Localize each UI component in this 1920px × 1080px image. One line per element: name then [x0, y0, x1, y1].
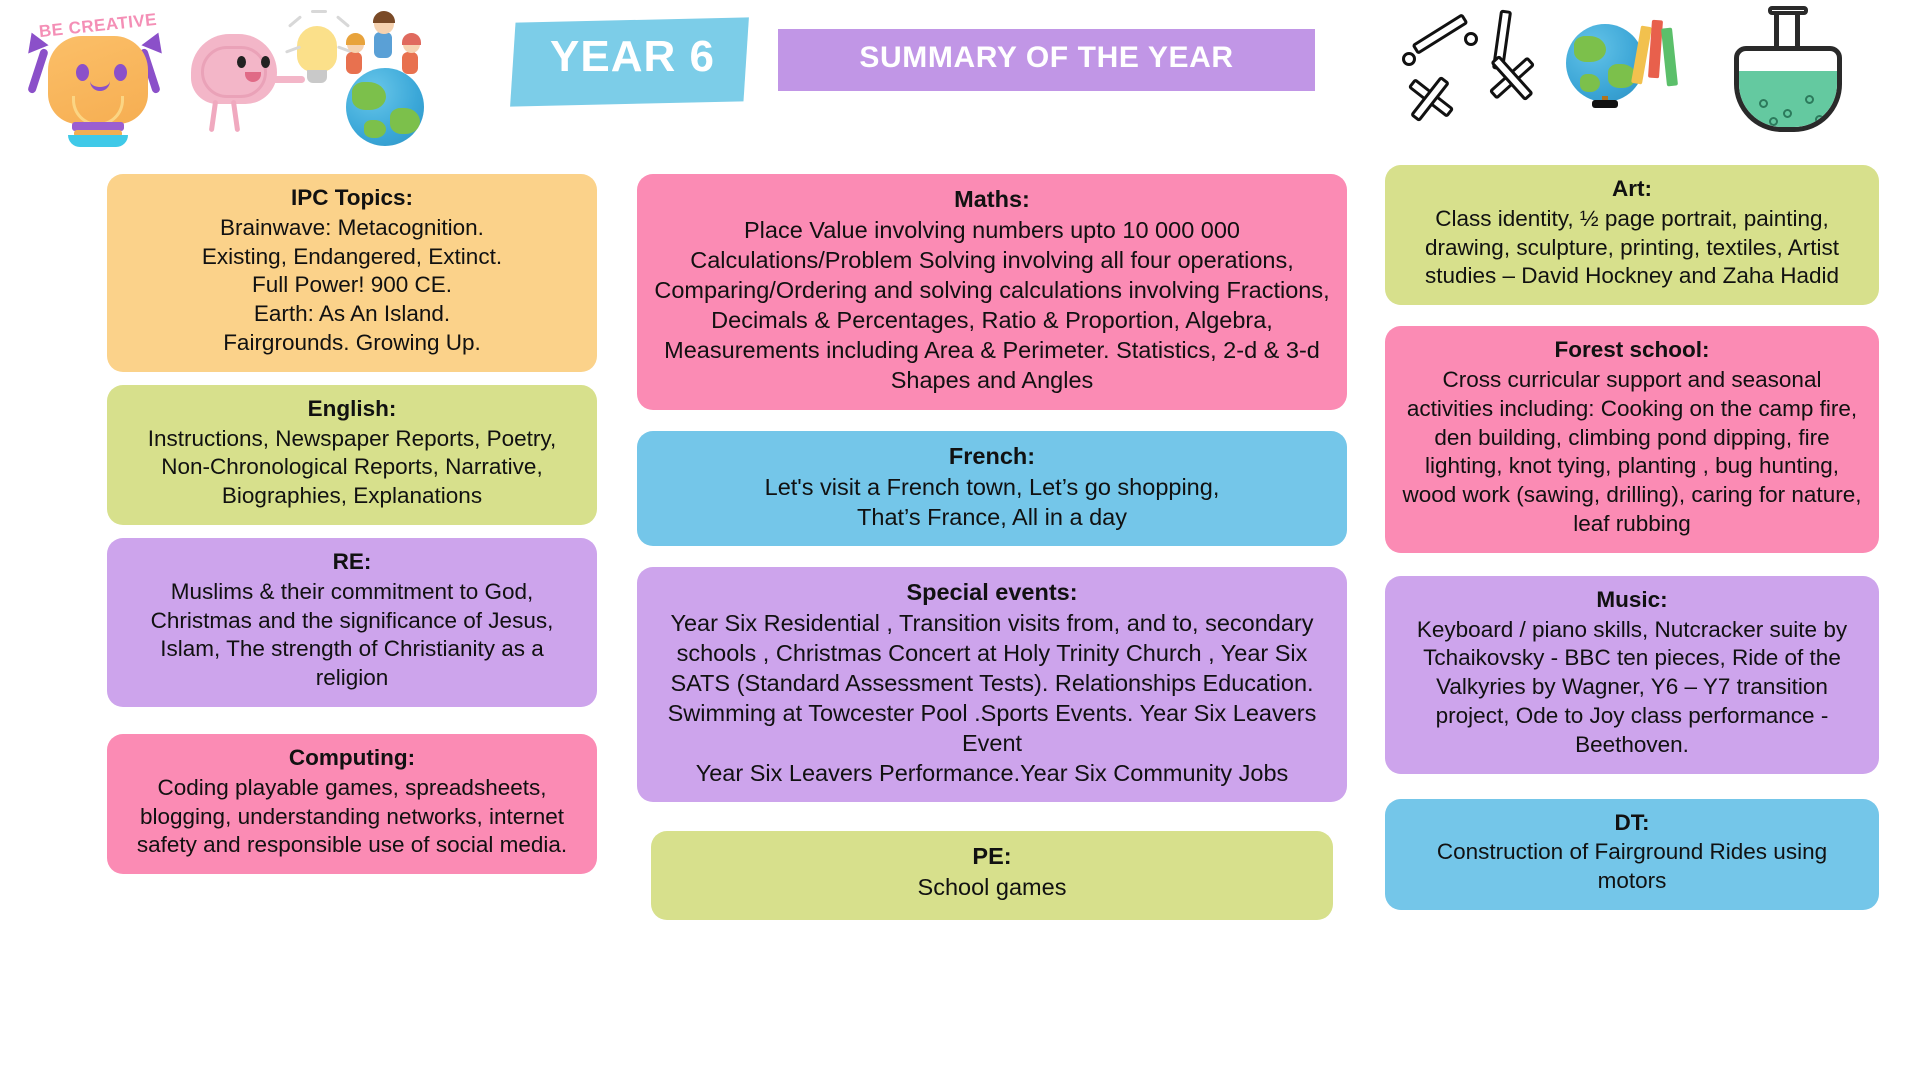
card-french[interactable]: French: Let's visit a French town, Let’s…	[637, 431, 1347, 546]
card-title: Art:	[1401, 175, 1863, 204]
summary-label: SUMMARY OF THE YEAR	[778, 41, 1315, 75]
card-title: IPC Topics:	[123, 184, 581, 213]
right-column: Art: Class identity, ½ page portrait, pa…	[1385, 165, 1879, 910]
card-title: RE:	[123, 548, 581, 577]
subject-board: IPC Topics: Brainwave: Metacognition. Ex…	[0, 160, 1920, 1080]
card-body: Keyboard / piano skills, Nutcracker suit…	[1401, 616, 1863, 760]
card-body: Cross curricular support and seasonal ac…	[1401, 366, 1863, 539]
card-maths[interactable]: Maths: Place Value involving numbers upt…	[637, 174, 1347, 410]
poster-header: BE CREATIVE	[0, 0, 1920, 160]
card-pe[interactable]: PE: School games	[651, 831, 1333, 920]
card-title: Forest school:	[1401, 336, 1863, 365]
card-title: Computing:	[123, 744, 581, 773]
card-body: School games	[667, 872, 1317, 902]
brain-character-icon	[185, 12, 325, 137]
card-title: English:	[123, 395, 581, 424]
pencil-doodles-icon	[1400, 6, 1550, 131]
card-body: Class identity, ½ page portrait, paintin…	[1401, 205, 1863, 291]
card-title: DT:	[1401, 809, 1863, 838]
card-title: Special events:	[653, 577, 1331, 607]
card-re[interactable]: RE: Muslims & their commitment to God, C…	[107, 538, 597, 707]
card-english[interactable]: English: Instructions, Newspaper Reports…	[107, 385, 597, 525]
poster-page: BE CREATIVE	[0, 0, 1920, 1080]
card-body: Coding playable games, spreadsheets, blo…	[123, 774, 581, 860]
card-art[interactable]: Art: Class identity, ½ page portrait, pa…	[1385, 165, 1879, 305]
card-dt[interactable]: DT: Construction of Fairground Rides usi…	[1385, 799, 1879, 910]
middle-column: Maths: Place Value involving numbers upt…	[637, 174, 1347, 920]
card-music[interactable]: Music: Keyboard / piano skills, Nutcrack…	[1385, 576, 1879, 774]
card-body: Let's visit a French town, Let’s go shop…	[653, 472, 1331, 532]
year-label: YEAR 6	[520, 32, 745, 82]
card-body: Brainwave: Metacognition. Existing, Enda…	[123, 214, 581, 358]
card-ipc-topics[interactable]: IPC Topics: Brainwave: Metacognition. Ex…	[107, 174, 597, 372]
kids-on-globe-icon	[330, 8, 440, 138]
card-body: Year Six Residential , Transition visits…	[653, 608, 1331, 788]
card-body: Construction of Fairground Rides using m…	[1401, 838, 1863, 896]
card-title: Music:	[1401, 586, 1863, 615]
card-title: Maths:	[653, 184, 1331, 214]
science-flask-icon	[1718, 6, 1878, 136]
card-title: PE:	[667, 841, 1317, 871]
globe-icon	[1548, 10, 1668, 135]
card-computing[interactable]: Computing: Coding playable games, spread…	[107, 734, 597, 874]
card-forest-school[interactable]: Forest school: Cross curricular support …	[1385, 326, 1879, 553]
left-column: IPC Topics: Brainwave: Metacognition. Ex…	[107, 174, 597, 874]
lightbulb-character-icon: BE CREATIVE	[10, 4, 180, 144]
card-special-events[interactable]: Special events: Year Six Residential , T…	[637, 567, 1347, 803]
card-body: Place Value involving numbers upto 10 00…	[653, 215, 1331, 395]
card-body: Instructions, Newspaper Reports, Poetry,…	[123, 425, 581, 511]
card-title: French:	[653, 441, 1331, 471]
card-body: Muslims & their commitment to God, Chris…	[123, 578, 581, 693]
